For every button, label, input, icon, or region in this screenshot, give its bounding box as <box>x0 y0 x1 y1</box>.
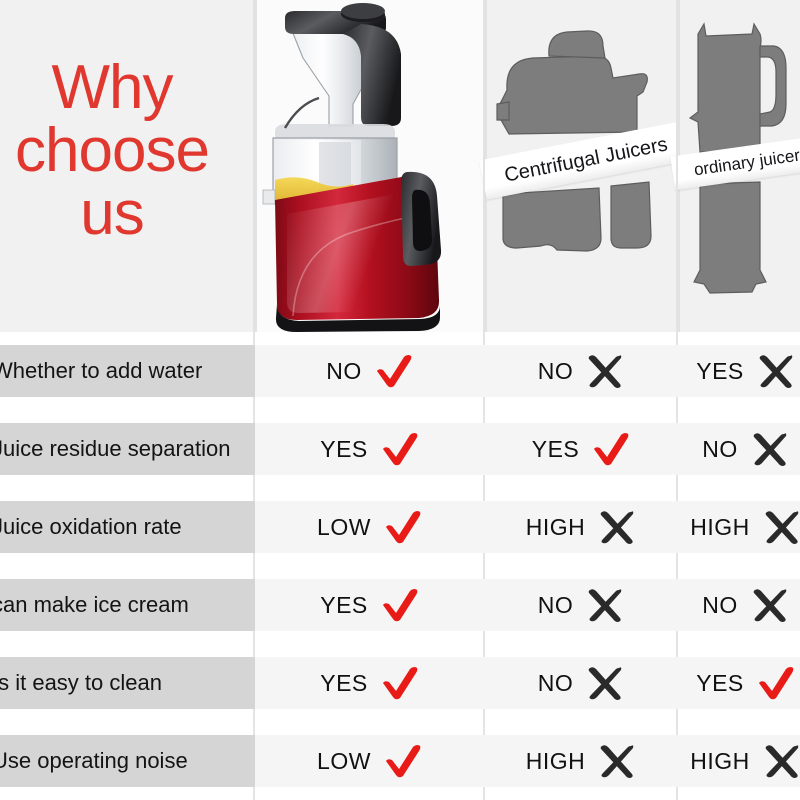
cell-value: YES <box>696 670 744 697</box>
page-title-line-3: us <box>0 182 252 245</box>
slow-juicer-product-photo <box>257 0 487 332</box>
comparison-infographic: Why choose us <box>0 0 800 800</box>
cell-slow-juicer: LOW <box>255 501 485 553</box>
table-row: can make ice creamYESNONO <box>0 566 800 644</box>
cell-centrifugal-juicer: NO <box>485 579 678 631</box>
table-row: Use operating noiseLOWHIGHHIGH <box>0 722 800 800</box>
ordinary-juicer-silhouette: ordinary juicer <box>680 0 800 332</box>
cell-centrifugal-juicer: YES <box>485 423 678 475</box>
row-label: Juice residue separation <box>0 423 247 475</box>
cell-ordinary-juicer: HIGH <box>678 501 800 553</box>
cell-ordinary-juicer: NO <box>678 579 800 631</box>
cell-slow-juicer: NO <box>255 345 485 397</box>
cell-ordinary-juicer: YES <box>678 657 800 709</box>
row-label: Juice oxidation rate <box>0 501 247 553</box>
red-check-icon <box>383 509 423 545</box>
centrifugal-juicer-silhouette: Centrifugal Juicers <box>487 0 678 332</box>
black-cross-icon <box>597 509 637 545</box>
cell-slow-juicer: YES <box>255 423 485 475</box>
cell-slow-juicer: LOW <box>255 735 485 787</box>
slow-juicer-icon <box>257 0 487 332</box>
cell-value: HIGH <box>690 748 750 775</box>
cell-value: LOW <box>317 748 371 775</box>
black-cross-icon <box>585 587 625 623</box>
cell-value: YES <box>320 592 368 619</box>
cell-value: LOW <box>317 514 371 541</box>
cell-value: NO <box>702 592 738 619</box>
black-cross-icon <box>750 587 790 623</box>
cell-value: YES <box>320 670 368 697</box>
cell-value: YES <box>532 436 580 463</box>
red-check-icon <box>380 665 420 701</box>
black-cross-icon <box>585 353 625 389</box>
cell-centrifugal-juicer: HIGH <box>485 501 678 553</box>
header-ordinary-cell: ordinary juicer <box>678 0 800 332</box>
cell-value: NO <box>702 436 738 463</box>
comparison-table-body: Whether to add waterNONOYESJuice residue… <box>0 332 800 800</box>
cell-ordinary-juicer: YES <box>678 345 800 397</box>
cell-slow-juicer: YES <box>255 657 485 709</box>
row-label: Is it easy to clean <box>0 657 247 709</box>
black-cross-icon <box>762 509 800 545</box>
red-check-icon <box>756 665 796 701</box>
black-cross-icon <box>585 665 625 701</box>
header-title-cell: Why choose us <box>0 0 255 332</box>
black-cross-icon <box>750 431 790 467</box>
black-cross-icon <box>762 743 800 779</box>
page-title: Why choose us <box>0 56 252 246</box>
black-cross-icon <box>597 743 637 779</box>
cell-value: HIGH <box>526 514 586 541</box>
header-centrifugal-cell: Centrifugal Juicers <box>485 0 678 332</box>
cell-centrifugal-juicer: HIGH <box>485 735 678 787</box>
cell-value: YES <box>696 358 744 385</box>
black-cross-icon <box>756 353 796 389</box>
row-label: Use operating noise <box>0 735 247 787</box>
cell-centrifugal-juicer: NO <box>485 345 678 397</box>
header-divider-1 <box>253 0 255 332</box>
red-check-icon <box>374 353 414 389</box>
page-title-line-2: choose <box>0 119 252 182</box>
cell-ordinary-juicer: HIGH <box>678 735 800 787</box>
cell-value: HIGH <box>690 514 750 541</box>
cell-value: NO <box>326 358 362 385</box>
header-row: Why choose us <box>0 0 800 332</box>
table-row: Whether to add waterNONOYES <box>0 332 800 410</box>
table-row: Juice residue separationYESYESNO <box>0 410 800 488</box>
table-row: Is it easy to cleanYESNOYES <box>0 644 800 722</box>
header-divider-2 <box>483 0 485 332</box>
cell-centrifugal-juicer: NO <box>485 657 678 709</box>
cell-slow-juicer: YES <box>255 579 485 631</box>
cell-value: YES <box>320 436 368 463</box>
red-check-icon <box>591 431 631 467</box>
cell-value: NO <box>538 358 574 385</box>
row-label: Whether to add water <box>0 345 247 397</box>
header-divider-3 <box>676 0 678 332</box>
red-check-icon <box>380 587 420 623</box>
header-slow-juicer-cell <box>255 0 485 332</box>
cell-value: NO <box>538 592 574 619</box>
table-row: Juice oxidation rateLOWHIGHHIGH <box>0 488 800 566</box>
cell-value: HIGH <box>526 748 586 775</box>
row-label: can make ice cream <box>0 579 247 631</box>
red-check-icon <box>383 743 423 779</box>
page-title-line-1: Why <box>0 56 252 119</box>
cell-value: NO <box>538 670 574 697</box>
cell-ordinary-juicer: NO <box>678 423 800 475</box>
red-check-icon <box>380 431 420 467</box>
